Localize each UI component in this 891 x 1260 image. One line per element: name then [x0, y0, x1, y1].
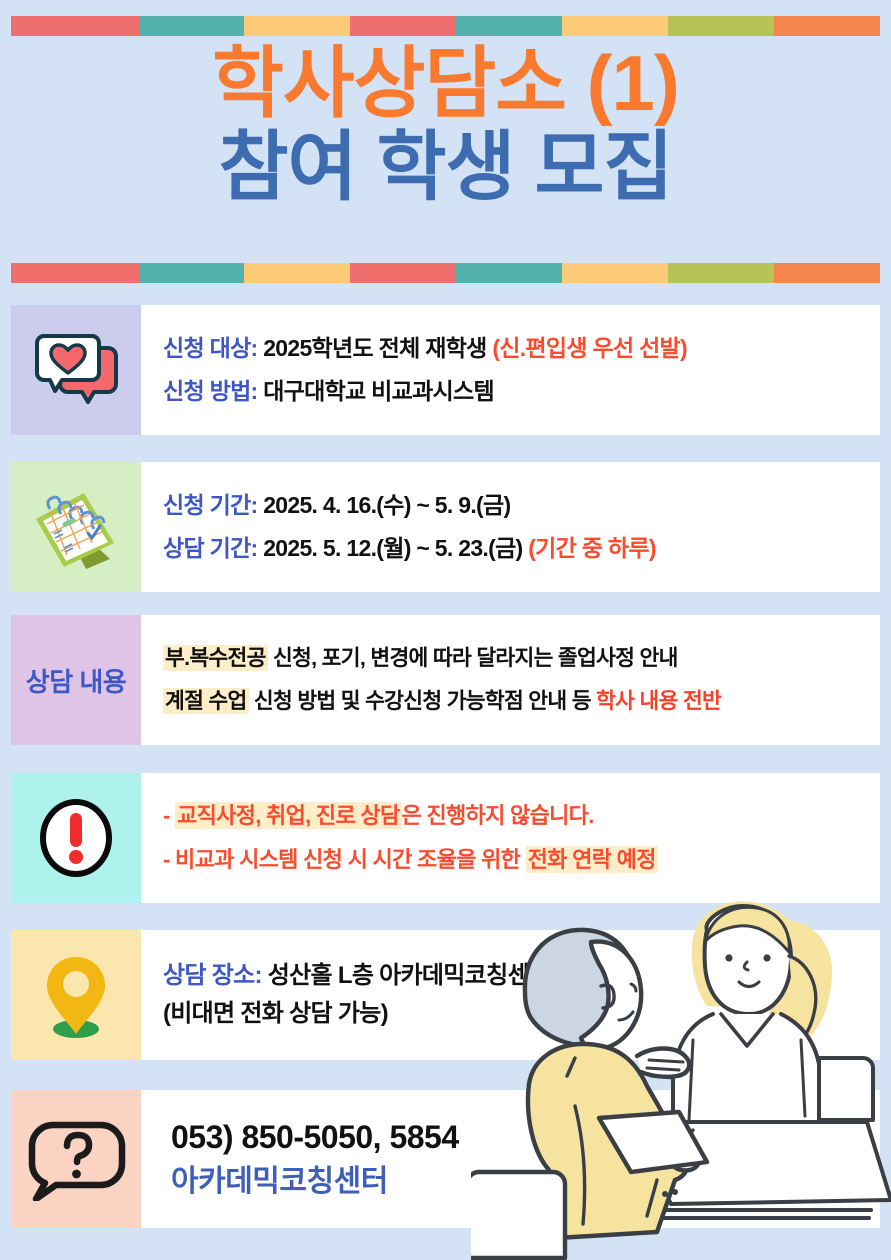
strip-segment — [139, 263, 245, 283]
content-line-1-body: 신청, 포기, 변경에 따라 달라지는 졸업사정 안내 — [268, 646, 678, 670]
strip-segment — [456, 263, 562, 283]
location-text-cell: 상담 장소: 성산홀 L층 아카데믹코칭센터 (비대면 전화 상담 가능) — [141, 930, 880, 1060]
contact-center-name: 아카데믹코칭센터 — [171, 1167, 870, 1197]
strip-segment — [668, 16, 774, 36]
map-pin-icon — [11, 930, 141, 1060]
poster-title: 학사상담소 (1) 참여 학생 모집 — [0, 44, 891, 206]
content-line-2: 계절 수업 신청 방법 및 수강신청 가능학점 안내 등 학사 내용 전반 — [163, 691, 870, 713]
notice-line-1-highlight: 교직사정, 취업, 진로 상담 — [175, 802, 401, 829]
contact-text-cell: 053) 850-5050, 5854 아카데믹코칭센터 — [141, 1090, 880, 1228]
application-text-cell: 신청 대상: 2025학년도 전체 재학생 (신.편입생 우선 선발) 신청 방… — [141, 305, 880, 435]
location-line-1: 상담 장소: 성산홀 L층 아카데믹코칭센터 — [163, 964, 870, 988]
question-speech-bubble-icon — [11, 1090, 141, 1228]
bottom-color-strip — [11, 263, 880, 283]
counseling-period-note: (기간 중 하루) — [528, 535, 656, 561]
application-target-body: 2025학년도 전체 재학생 — [258, 335, 493, 361]
application-period-body: 2025. 4. 16.(수) ~ 5. 9.(금) — [258, 492, 511, 518]
strip-segment — [244, 263, 350, 283]
heart-speech-bubble-icon — [11, 305, 141, 435]
application-target-label: 신청 대상: — [163, 335, 258, 361]
info-row-content: 상담 내용 부.복수전공 신청, 포기, 변경에 따라 달라지는 졸업사정 안내… — [11, 615, 880, 745]
content-line-2-highlight: 계절 수업 — [163, 688, 249, 714]
counseling-period-label: 상담 기간: — [163, 535, 258, 561]
strip-segment — [139, 16, 245, 36]
notice-line-2-highlight: 전화 연락 예정 — [526, 846, 658, 873]
top-color-strip — [11, 16, 880, 36]
desk-calendar-icon — [11, 462, 141, 592]
strip-segment — [244, 16, 350, 36]
strip-segment — [11, 263, 139, 283]
application-method-line: 신청 방법: 대구대학교 비교과시스템 — [163, 380, 870, 403]
strip-segment — [350, 263, 456, 283]
content-label-cell: 상담 내용 — [11, 615, 141, 745]
application-period-label: 신청 기간: — [163, 492, 258, 518]
strip-segment — [456, 16, 562, 36]
period-text-cell: 신청 기간: 2025. 4. 16.(수) ~ 5. 9.(금) 상담 기간:… — [141, 462, 880, 592]
strip-segment — [774, 16, 880, 36]
location-line-2: (비대면 전화 상담 가능) — [163, 1002, 870, 1026]
notice-line-1-body: 은 진행하지 않습니다. — [402, 803, 594, 828]
poster-root: 학사상담소 (1) 참여 학생 모집 신청 대상: 2025학년도 전체 재학생… — [0, 0, 891, 1260]
notice-line-2-body: 비교과 시스템 신청 시 시간 조율을 위한 — [175, 847, 526, 872]
info-row-period: 신청 기간: 2025. 4. 16.(수) ~ 5. 9.(금) 상담 기간:… — [11, 462, 880, 592]
counseling-period-body: 2025. 5. 12.(월) ~ 5. 23.(금) — [258, 535, 529, 561]
location-note: (비대면 전화 상담 가능) — [163, 1000, 388, 1027]
title-line-primary: 학사상담소 (1) — [0, 44, 891, 122]
strip-segment — [668, 263, 774, 283]
info-row-contact: 053) 850-5050, 5854 아카데믹코칭센터 — [11, 1090, 880, 1228]
notice-line-1-dash: - — [163, 803, 175, 828]
content-line-2-note: 학사 내용 전반 — [596, 689, 721, 713]
info-row-location: 상담 장소: 성산홀 L층 아카데믹코칭센터 (비대면 전화 상담 가능) — [11, 930, 880, 1060]
content-line-1-highlight: 부.복수전공 — [163, 645, 268, 671]
notice-line-2: - 비교과 시스템 신청 시 시간 조율을 위한 전화 연락 예정 — [163, 849, 870, 871]
content-text-cell: 부.복수전공 신청, 포기, 변경에 따라 달라지는 졸업사정 안내 계절 수업… — [141, 615, 880, 745]
strip-segment — [562, 16, 668, 36]
info-row-notice: - 교직사정, 취업, 진로 상담은 진행하지 않습니다. - 비교과 시스템 … — [11, 773, 880, 903]
application-method-body: 대구대학교 비교과시스템 — [258, 378, 494, 404]
contact-phone-number[interactable]: 053) 850-5050, 5854 — [171, 1121, 870, 1153]
exclamation-circle-icon — [11, 773, 141, 903]
strip-segment — [562, 263, 668, 283]
counseling-period-line: 상담 기간: 2025. 5. 12.(월) ~ 5. 23.(금) (기간 중… — [163, 537, 870, 560]
application-target-line: 신청 대상: 2025학년도 전체 재학생 (신.편입생 우선 선발) — [163, 337, 870, 360]
application-method-label: 신청 방법: — [163, 378, 258, 404]
content-line-1: 부.복수전공 신청, 포기, 변경에 따라 달라지는 졸업사정 안내 — [163, 648, 870, 670]
notice-line-1: - 교직사정, 취업, 진로 상담은 진행하지 않습니다. — [163, 805, 870, 827]
notice-line-2-dash: - — [163, 847, 175, 872]
content-line-2-body: 신청 방법 및 수강신청 가능학점 안내 등 — [249, 689, 596, 713]
application-period-line: 신청 기간: 2025. 4. 16.(수) ~ 5. 9.(금) — [163, 494, 870, 517]
strip-segment — [774, 263, 880, 283]
location-label: 상담 장소: — [163, 962, 262, 989]
info-row-application: 신청 대상: 2025학년도 전체 재학생 (신.편입생 우선 선발) 신청 방… — [11, 305, 880, 435]
application-target-note: (신.편입생 우선 선발) — [492, 335, 687, 361]
notice-text-cell: - 교직사정, 취업, 진로 상담은 진행하지 않습니다. - 비교과 시스템 … — [141, 773, 880, 903]
content-label-text: 상담 내용 — [26, 662, 126, 699]
strip-segment — [350, 16, 456, 36]
title-line-secondary: 참여 학생 모집 — [0, 130, 891, 206]
location-body: 성산홀 L층 아카데믹코칭센터 — [262, 962, 550, 989]
strip-segment — [11, 16, 139, 36]
